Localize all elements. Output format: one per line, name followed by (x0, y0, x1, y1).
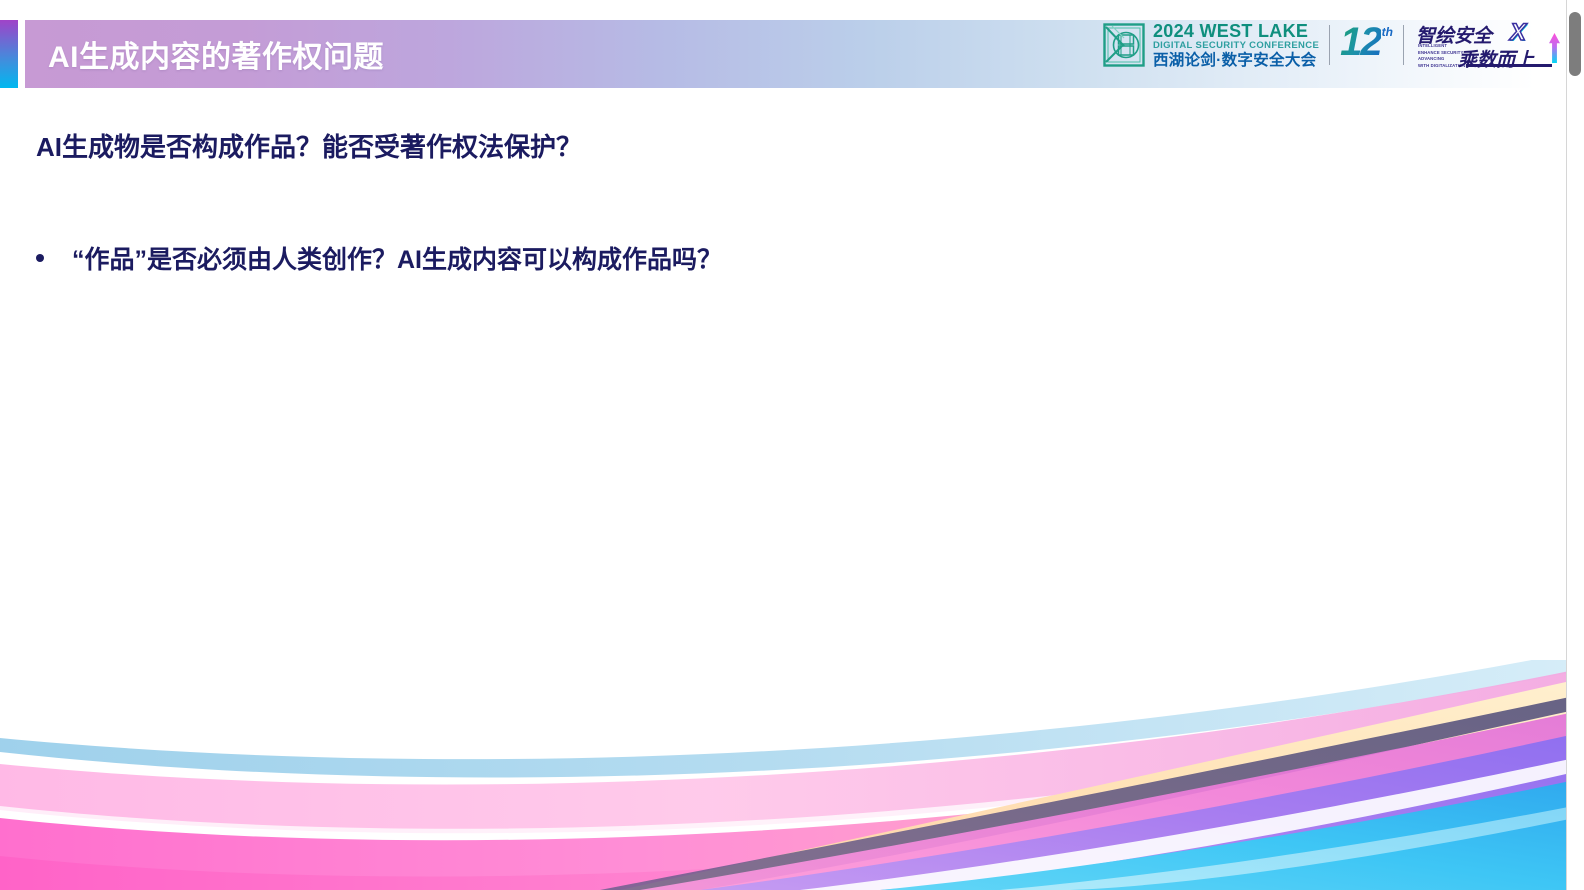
conference-year-title: 2024 WEST LAKE (1153, 22, 1319, 40)
conference-logo: 2024 WEST LAKE DIGITAL SECURITY CONFEREN… (1102, 22, 1319, 69)
branding-logo-cluster: 2024 WEST LAKE DIGITAL SECURITY CONFEREN… (1102, 16, 1562, 74)
conference-wordmark: 2024 WEST LAKE DIGITAL SECURITY CONFEREN… (1153, 22, 1319, 69)
west-lake-seal-icon (1102, 22, 1146, 68)
bullet-dot-icon (36, 254, 44, 262)
up-arrow-icon (1549, 33, 1560, 63)
slide-title: AI生成内容的著作权问题 (48, 20, 384, 88)
conference-chinese-name: 西湖论剑·数字安全大会 (1153, 53, 1319, 69)
section-heading: AI生成物是否构成作品？能否受著作权法保护？ (36, 127, 582, 164)
logo-divider-1 (1329, 25, 1330, 65)
decorative-ribbon (0, 660, 1584, 890)
edition-badge: 12 th (1340, 22, 1393, 68)
edition-ordinal: th (1382, 25, 1393, 39)
slogan-x-mark: X (1510, 19, 1526, 47)
bullet-list-item: “作品”是否必须由人类创作？AI生成内容可以构成作品吗？ (36, 240, 722, 276)
slogan-line-2: 乘数而上 (1458, 45, 1534, 72)
logo-divider-2 (1403, 25, 1404, 65)
slogan-logo: 智绘安全 X INTELLIGENTENHANCE SECURITYADVANC… (1414, 19, 1562, 71)
title-accent-bar (0, 20, 18, 88)
vertical-scrollbar-thumb[interactable] (1569, 12, 1581, 76)
vertical-scrollbar-track[interactable] (1566, 0, 1584, 890)
slide-canvas: AI生成内容的著作权问题 2024 WEST LAKE (0, 0, 1584, 890)
conference-subtitle: DIGITAL SECURITY CONFERENCE (1153, 41, 1319, 51)
slogan-underline (1466, 64, 1552, 67)
edition-number: 12 (1340, 22, 1381, 62)
bullet-item-label: “作品”是否必须由人类创作？AI生成内容可以构成作品吗？ (72, 240, 722, 276)
